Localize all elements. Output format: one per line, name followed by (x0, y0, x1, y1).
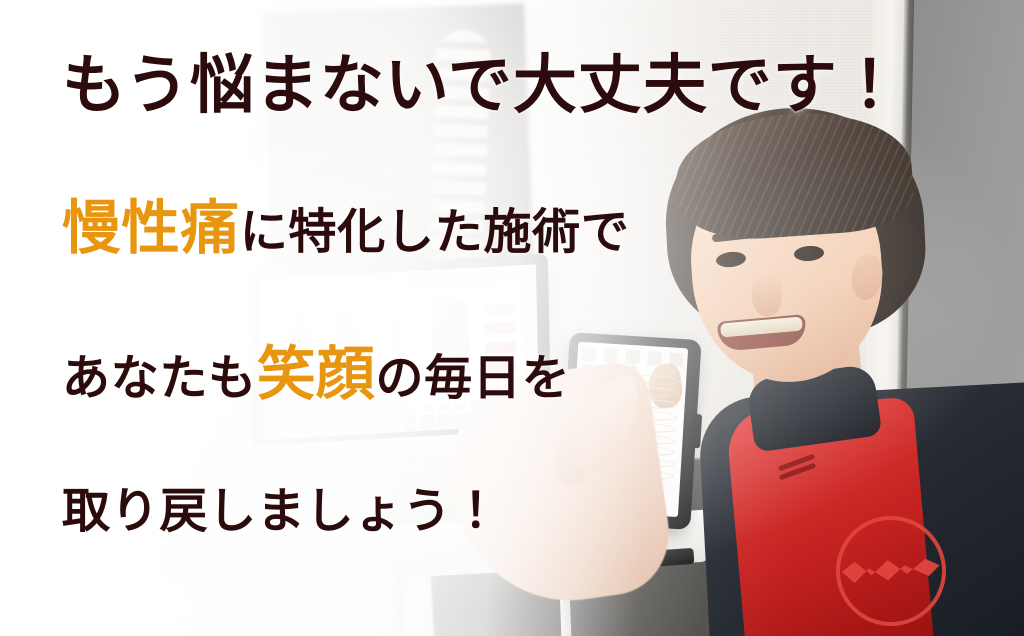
headline-line-4: 取り戻しましょう！ (62, 488, 500, 536)
headline-line-3-prefix: あなたも (62, 352, 257, 405)
headline-line-4-text: 取り戻しましょう！ (62, 485, 500, 538)
headline-line-2: 慢性痛に特化した施術で (62, 200, 630, 259)
headline-line-3: あなたも笑顔の毎日を (62, 346, 570, 405)
hero-banner: もう悩まないで大丈夫です！ 慢性痛に特化した施術で あなたも笑顔の毎日を 取り戻… (0, 0, 1024, 636)
headline-highlight-chronic-pain: 慢性痛 (62, 196, 240, 261)
headline-line-2-rest: に特化した施術で (240, 206, 630, 259)
headline-line-1: もう悩まないで大丈夫です！ (62, 54, 903, 118)
headline-highlight-smile: 笑顔 (257, 342, 376, 407)
headline-line-3-suffix: の毎日を (375, 352, 570, 405)
headline-copy: もう悩まないで大丈夫です！ 慢性痛に特化した施術で あなたも笑顔の毎日を 取り戻… (0, 0, 1024, 636)
headline-line-1-text: もう悩まないで大丈夫です！ (62, 50, 903, 121)
